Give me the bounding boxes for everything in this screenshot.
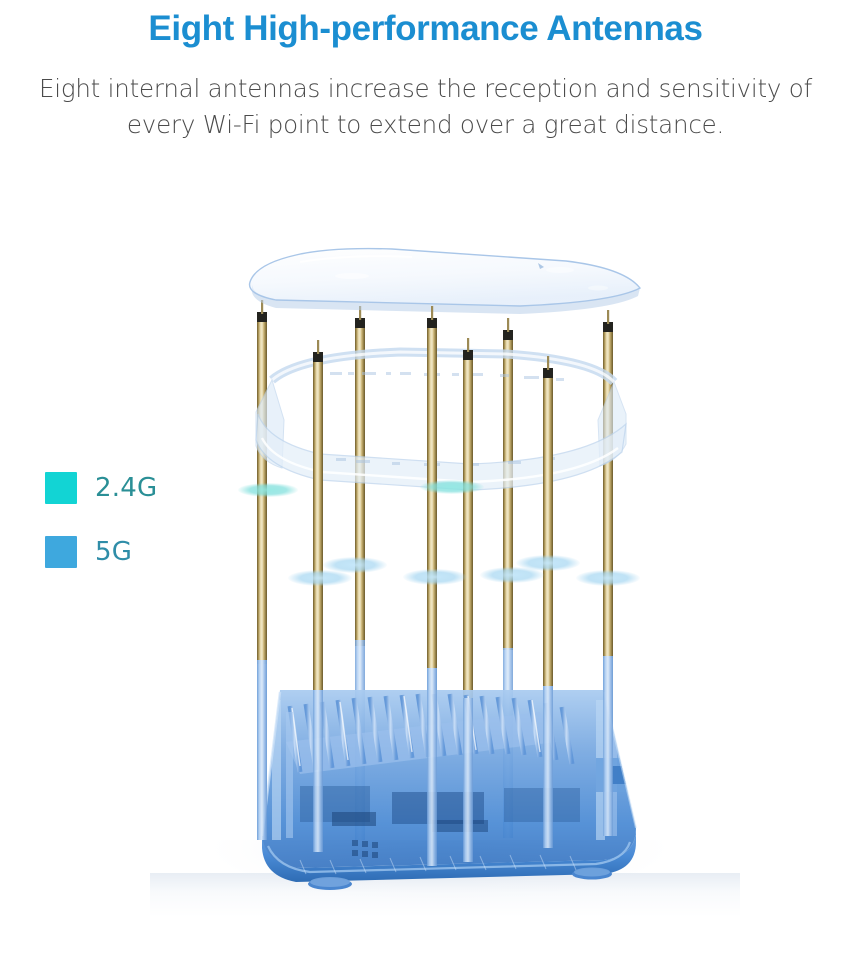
signal-rings-5g [288,555,640,586]
legend-label-24g: 2.4G [95,473,157,503]
base-foot [572,869,612,880]
antenna-group-back [257,300,613,840]
translucent-base-heatsink [262,690,638,890]
floor-shadow [190,840,690,950]
signal-band-legend: 2.4G 5G [45,470,205,598]
acrylic-mid-ring [256,352,626,490]
antenna-rod [543,356,553,848]
antenna-rod [463,338,473,862]
floor-reflection [150,873,740,917]
legend-swatch-24g [45,472,77,504]
antenna-rod [503,318,513,838]
base-foot [308,878,352,890]
legend-item-5g: 5G [45,534,205,570]
header: Eight High-performance Antennas Eight in… [0,0,851,142]
antenna-rod [313,340,323,852]
page-title: Eight High-performance Antennas [0,0,851,49]
antenna-rod [257,300,267,840]
antenna-rod [355,306,365,840]
antenna-rod [603,310,613,836]
legend-label-5g: 5G [95,537,132,567]
page-subtitle: Eight internal antennas increase the rec… [31,49,821,142]
heatsink-fins [286,694,572,774]
legend-swatch-5g [45,536,77,568]
antenna-rod [427,306,437,866]
legend-item-24g: 2.4G [45,470,205,506]
acrylic-top-plate [250,249,640,314]
antenna-sleeves-front [257,656,613,866]
signal-rings-24g [238,480,484,497]
antenna-group-front [313,306,553,866]
